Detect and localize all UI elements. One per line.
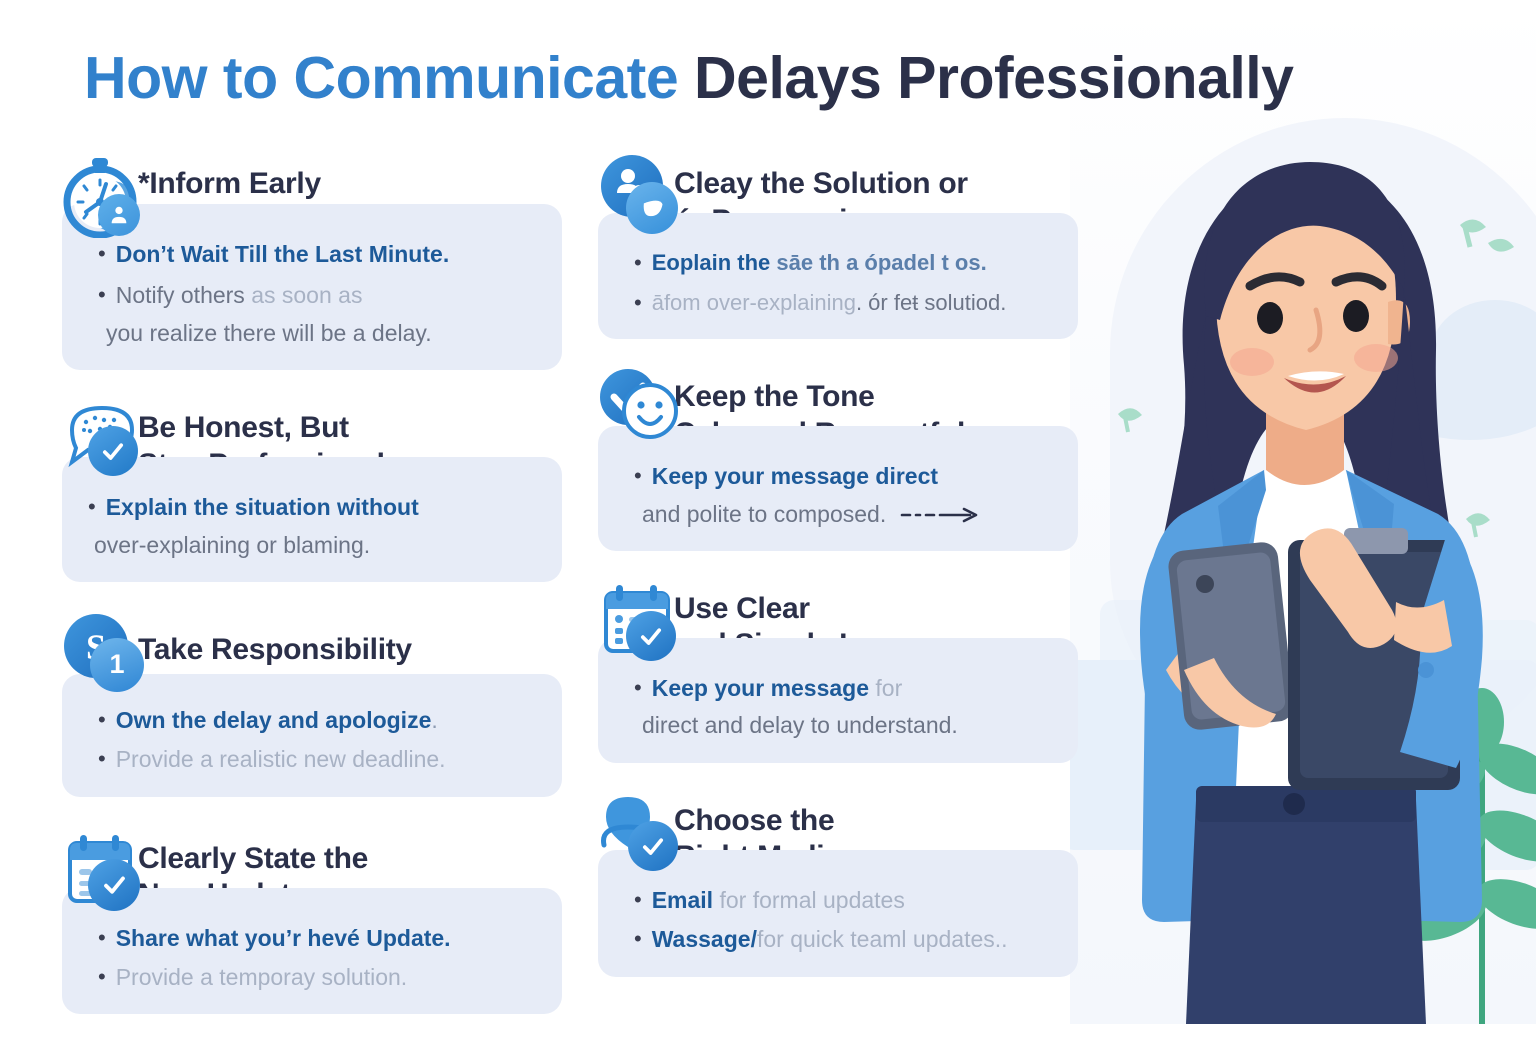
dollar-badge-icon: S 1 <box>62 612 138 688</box>
calendar-icon <box>62 829 138 905</box>
businesswoman-illustration <box>1088 110 1518 1024</box>
person-badge-icon <box>98 194 140 236</box>
smiley-icon <box>598 367 674 443</box>
bullet-strong: Email <box>652 887 713 913</box>
illustration-panel <box>1070 0 1536 1024</box>
page-title-part2: Delays Professionally <box>694 45 1293 111</box>
bullet-dot: • <box>634 287 642 319</box>
speech-bubble-icon <box>62 398 138 474</box>
bullet-item: • Provide a temporay solution. <box>84 961 540 994</box>
tip-title-line: Keep the Tone <box>674 379 965 416</box>
tip-card-take-responsibility: S 1 Take Responsibility • Own the delay … <box>62 618 562 797</box>
check-badge-icon <box>88 426 138 476</box>
bullet-tail: . <box>981 250 987 275</box>
bullet-strong: Eoplain the <box>652 250 777 275</box>
left-column: *Inform Early • Don’t Wait Till the Last… <box>62 160 562 1038</box>
bullet-strong: Share what you’r hevé Update. <box>116 922 451 955</box>
bullet-item: • Provide a realistic new deadline. <box>84 743 540 776</box>
bullet-dot: • <box>98 922 106 954</box>
bullet-dot: • <box>98 961 106 993</box>
shield-person-icon <box>598 154 674 230</box>
location-pin-icon <box>598 791 674 867</box>
bullet-item: • Wassage/for quick teaml updates.. <box>620 923 1056 956</box>
bullet-item: • Eoplain the sāe th a ópadel t os. <box>620 247 1056 279</box>
bullet-item: • Don’t Wait Till the Last Minute. <box>84 238 540 271</box>
tip-card-clearly-state: Clearly State the New Update • Share wha… <box>62 835 562 1015</box>
bullet-faint: . ór feŧ solutiod. <box>856 290 1006 315</box>
number-badge: 1 <box>90 638 144 692</box>
bullet-subline: and polite to composed. <box>642 498 886 531</box>
tip-title-line: Cleay the Solution or <box>674 166 968 203</box>
bullet-subline: you realize there will be a delay. <box>84 317 540 350</box>
bullet-strong: Own the delay and apologize <box>116 707 432 733</box>
tip-card-offer-solution: Cleay the Solution or ór Progressiog • E… <box>598 160 1078 339</box>
bullet-text: for formal updates <box>713 887 905 913</box>
leaf-badge-icon <box>626 182 678 234</box>
bullet-item: • Keep your message for <box>620 672 1056 705</box>
bullet-item: • Explain the situation without <box>84 491 540 524</box>
bullet-text: āfom over-explaining <box>652 290 856 315</box>
bullet-tail: . <box>443 241 449 267</box>
stopwatch-icon <box>62 154 138 230</box>
bullet-strong: Wassage/ <box>652 926 757 952</box>
bullet-strong: Keep your message <box>652 675 869 701</box>
check-badge-icon <box>628 821 678 871</box>
bullet-subline: over-explaining or blaming. <box>84 529 540 562</box>
tip-title-line: Use Clear <box>674 591 978 628</box>
bullet-dot: • <box>634 247 642 279</box>
bullet-dot: • <box>98 743 106 775</box>
bullet-strong: Keep your message direct <box>652 460 938 493</box>
check-badge-icon <box>626 611 676 661</box>
page-title: How to Communicate Delays Professionally <box>84 44 1464 112</box>
bullet-text: Provide a temporay solution. <box>116 961 408 994</box>
dashed-arrow-icon <box>900 505 990 523</box>
bullet-tail: . <box>431 707 437 733</box>
checklist-icon <box>598 579 674 655</box>
bullet-dot: • <box>98 238 106 270</box>
tip-title-line: Be Honest, But <box>138 410 385 447</box>
tip-title-line: Take Responsibility <box>138 632 412 669</box>
bullet-strong: Don’t Wait Till the Last Minute <box>116 241 443 267</box>
tip-card-be-honest: Be Honest, But Stay Professional • Expla… <box>62 404 562 582</box>
bullet-item: • Keep your message direct <box>620 460 1056 493</box>
tip-title: Take Responsibility <box>138 618 412 669</box>
bullet-text: for <box>869 675 902 701</box>
bullet-text: for quick teaml updates.. <box>757 926 1008 952</box>
bullet-dot: • <box>634 884 642 916</box>
bullet-subline-row: and polite to composed. <box>620 498 1056 531</box>
tip-title-line: Choose the <box>674 803 869 840</box>
bullet-subline: direct and delay to understand. <box>620 709 1056 742</box>
bullet-item: • Notify others as soon as <box>84 279 540 312</box>
tip-card-inform-early: *Inform Early • Don’t Wait Till the Last… <box>62 160 562 370</box>
bullet-dot: • <box>634 460 642 492</box>
tip-title-line: Clearly State the <box>138 841 368 878</box>
tip-title: *Inform Early <box>138 160 321 203</box>
bullet-item: • āfom over-explaining. ór feŧ solutiod. <box>620 287 1056 319</box>
bullet-faint: as soon as <box>251 282 362 308</box>
check-badge-icon <box>88 859 140 911</box>
bullet-text: Notify others <box>116 282 252 308</box>
bullet-dot: • <box>634 672 642 704</box>
page-title-part1: How to Communicate <box>84 45 694 111</box>
bullet-item: • Email for formal updates <box>620 884 1056 917</box>
tip-card-use-clear-language: Use Clear and Simple Language • Keep you… <box>598 585 1078 763</box>
right-column: Cleay the Solution or ór Progressiog • E… <box>598 160 1078 1001</box>
bullet-dot: • <box>98 704 106 736</box>
tip-title-line: *Inform Early <box>138 166 321 203</box>
bullet-item: • Own the delay and apologize. <box>84 704 540 737</box>
bullet-strong: Explain the situation without <box>106 491 419 524</box>
bullet-dot: • <box>88 491 96 523</box>
tip-card-choose-right-medium: Choose the Right Medium • Email for form… <box>598 797 1078 977</box>
tip-card-keep-tone-calm: Keep the Tone Calm and Respectful • Keep… <box>598 373 1078 551</box>
bullet-text: Provide a realistic new deadline. <box>116 743 446 776</box>
bullet-mid: sāe th a ópadel t os <box>776 250 980 275</box>
bullet-dot: • <box>634 923 642 955</box>
bullet-item: • Share what you’r hevé Update. <box>84 922 540 955</box>
bullet-dot: • <box>98 279 106 311</box>
